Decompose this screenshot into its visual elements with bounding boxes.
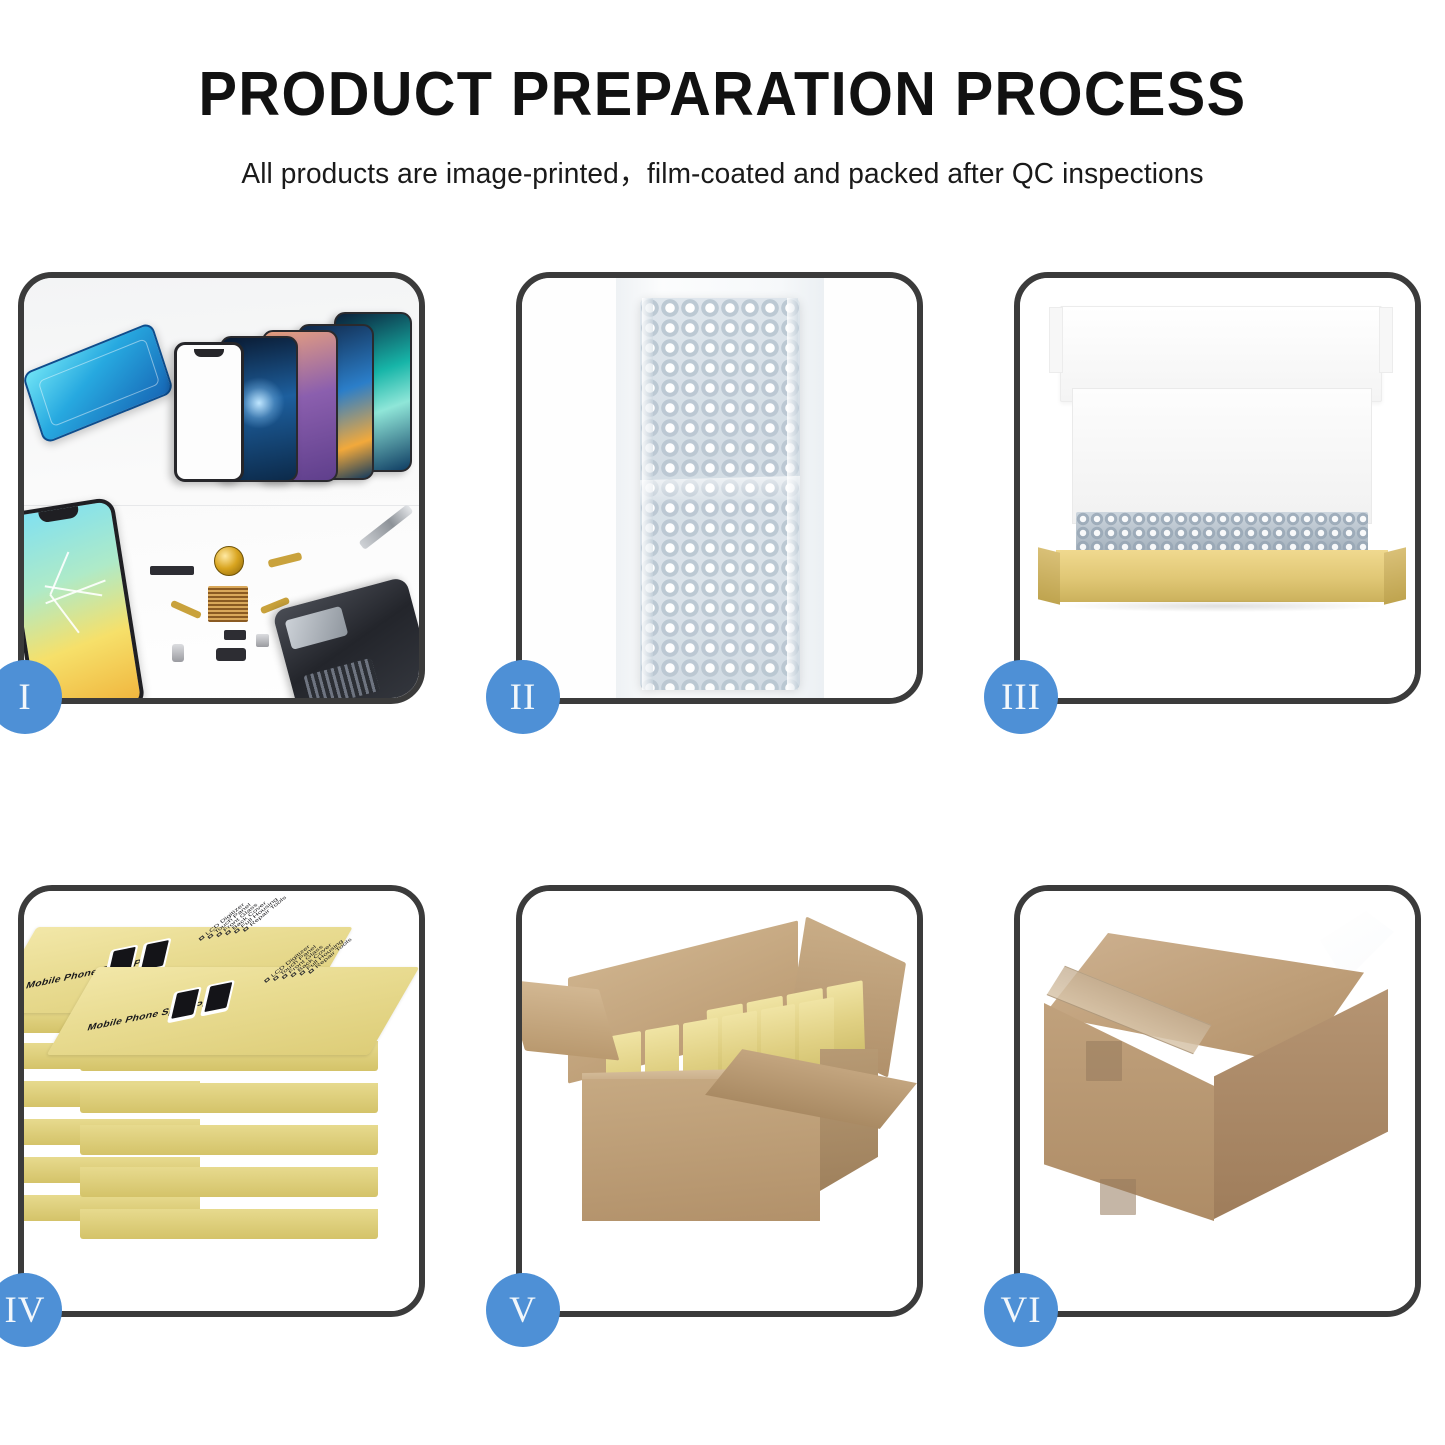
step-numeral: III <box>1001 676 1041 719</box>
step-numeral: I <box>18 676 31 719</box>
wrap-seam <box>642 298 653 690</box>
step-image-box-stacking: Mobile Phone Spare Parts LCD Digitizer T… <box>24 891 419 1311</box>
step-numeral: VI <box>1000 1289 1041 1332</box>
step-numeral: II <box>510 676 537 719</box>
page-subtitle: All products are image-printed，film-coat… <box>11 151 1434 192</box>
box-front-wall <box>1056 550 1388 602</box>
front-glass-blank <box>174 342 244 482</box>
screen-image <box>200 980 235 1017</box>
step-badge-2: II <box>486 660 560 734</box>
component-sim-tray <box>172 644 184 662</box>
step-numeral: IV <box>4 1289 45 1332</box>
step-badge-6: VI <box>984 1273 1058 1347</box>
step-image-bubble-wrapping <box>522 278 917 698</box>
step-panel-retail-boxing: III <box>1014 272 1421 704</box>
step-image-carton-sealed <box>1020 891 1415 1311</box>
box-side <box>80 1125 378 1155</box>
box-side <box>80 1167 378 1197</box>
screen-image <box>167 986 202 1023</box>
page-header: PRODUCT PREPARATION PROCESS All products… <box>0 0 1445 192</box>
step-image-spare-parts-overview <box>24 278 419 698</box>
step-numeral: V <box>509 1289 537 1332</box>
component-mesh-board <box>208 586 248 622</box>
step-badge-5: V <box>486 1273 560 1347</box>
page-title: PRODUCT PREPARATION PROCESS <box>51 62 1395 127</box>
component-module <box>256 634 269 647</box>
tape-patch <box>1086 1041 1122 1081</box>
step-panel-carton-sealed: VI <box>1014 885 1421 1317</box>
box-shadow <box>1064 600 1380 612</box>
step-image-carton-filling <box>522 891 917 1311</box>
tape-patch <box>1100 1179 1136 1215</box>
step-badge-3: III <box>984 660 1058 734</box>
component-chip <box>224 630 246 640</box>
step-panel-bubble-wrapping: II <box>516 272 923 704</box>
box-side <box>80 1209 378 1239</box>
retail-box-top-front: Mobile Phone Spare Parts LCD Digitizer T… <box>72 967 394 1055</box>
box-screen-images <box>167 980 235 1024</box>
component-camera <box>216 648 246 661</box>
component-chip <box>150 566 194 575</box>
crack-line <box>50 593 80 632</box>
process-step-grid: I II III <box>18 272 1427 1312</box>
box-side <box>80 1083 378 1113</box>
phone-fan-group <box>166 314 416 494</box>
step-panel-carton-filling: V <box>516 885 923 1317</box>
bubble-wrap-pouch <box>640 298 800 690</box>
component-speaker-coil <box>214 546 244 576</box>
box-label: Mobile Phone Spare Parts LCD Digitizer T… <box>47 967 419 1055</box>
step-panel-spare-parts-overview: I <box>18 272 425 704</box>
step-panel-box-stacking: Mobile Phone Spare Parts LCD Digitizer T… <box>18 885 425 1317</box>
step-image-retail-boxing <box>1020 278 1415 698</box>
wrap-seam <box>787 298 798 690</box>
box-back-wall <box>1072 388 1372 524</box>
